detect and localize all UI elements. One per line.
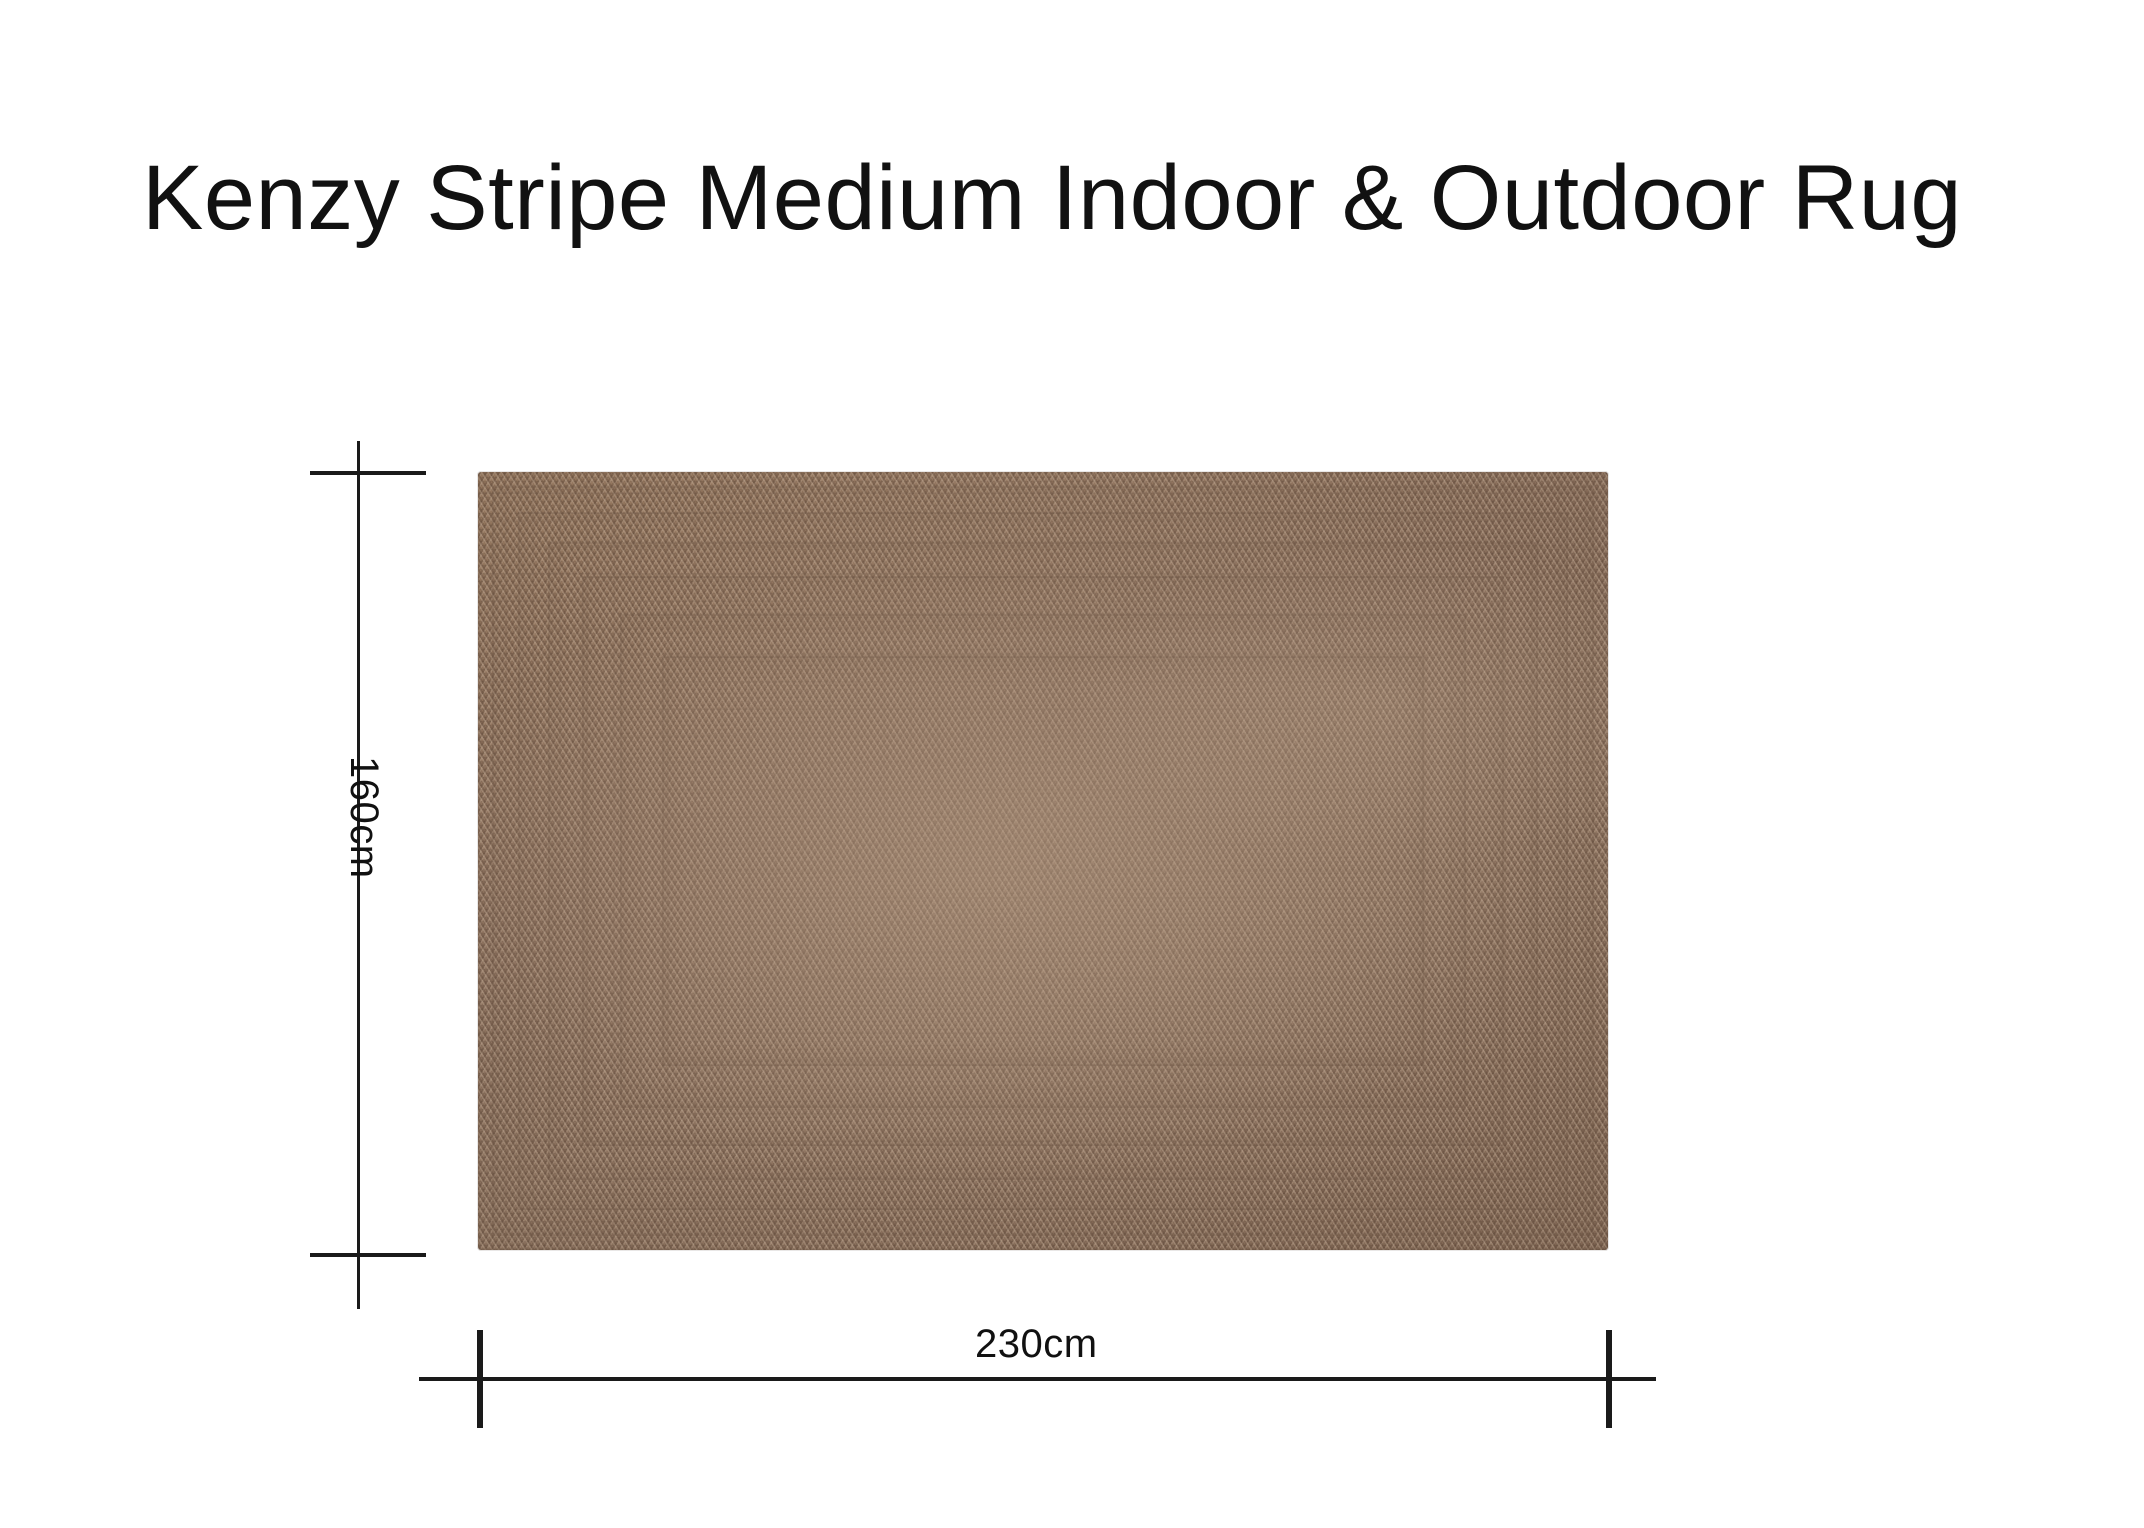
height-dimension-label: 160cm — [341, 756, 386, 916]
rug-band-2 — [518, 512, 1568, 1210]
page-title: Kenzy Stripe Medium Indoor & Outdoor Rug — [142, 152, 1962, 244]
width-dimension-label: 230cm — [975, 1322, 1098, 1367]
rug-edge-shading — [477, 471, 1609, 1251]
width-dimension-line — [419, 1377, 1656, 1381]
width-tick-left — [477, 1330, 483, 1428]
rug-band-6 — [662, 656, 1424, 1066]
rug-band-3 — [548, 542, 1538, 1180]
product-spec-canvas: Kenzy Stripe Medium Indoor & Outdoor Rug… — [0, 0, 2144, 1528]
rug-figure — [478, 472, 1608, 1250]
height-tick-top — [310, 471, 426, 475]
rug-band-1 — [492, 486, 1594, 1236]
rug-sheen-overlay — [478, 472, 1608, 1250]
rug-texture-image — [478, 472, 1608, 1250]
height-tick-bottom — [310, 1253, 426, 1257]
rug-band-5 — [620, 614, 1466, 1108]
rug-band-4 — [582, 576, 1504, 1146]
width-tick-right — [1606, 1330, 1612, 1428]
